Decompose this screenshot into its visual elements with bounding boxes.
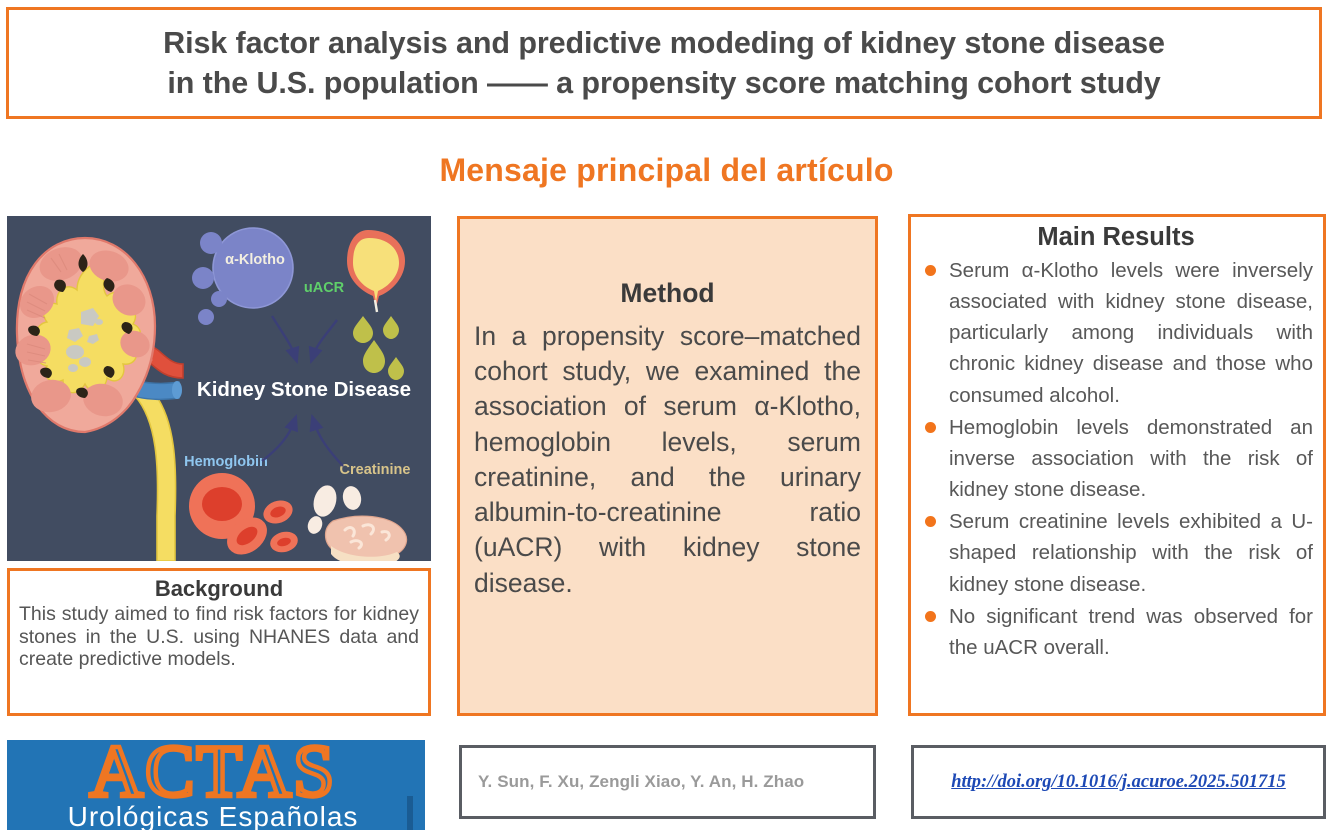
bullet-icon <box>925 422 936 433</box>
method-heading: Method <box>474 278 861 309</box>
list-item: No significant trend was observed for th… <box>919 601 1313 663</box>
list-item-text: Serum creatinine levels exhibited a U-sh… <box>949 510 1313 595</box>
bullet-icon <box>925 265 936 276</box>
subtitle: Mensaje principal del artículo <box>0 152 1333 189</box>
figure-center-label: Kidney Stone Disease <box>197 378 411 401</box>
journal-logo: ACTAS Urológicas Españolas <box>7 740 425 830</box>
renal-vein-opening <box>172 381 182 399</box>
title-line-1: Risk factor analysis and predictive mode… <box>163 26 1165 60</box>
bullet-icon <box>925 611 936 622</box>
main-results-heading: Main Results <box>919 223 1313 252</box>
list-item: Hemoglobin levels demonstrated an invers… <box>919 412 1313 505</box>
method-body: In a propensity score–matched cohort stu… <box>474 319 861 601</box>
method-panel: Method In a propensity score–matched coh… <box>457 216 878 716</box>
klotho-satellite-1 <box>200 232 222 254</box>
doi-box[interactable]: http://doi.org/10.1016/j.acuroe.2025.501… <box>911 745 1326 819</box>
logo-sub-text: Urológicas Españolas <box>68 801 359 830</box>
background-panel: Background This study aimed to find risk… <box>7 568 431 716</box>
klotho-satellite-2 <box>192 267 214 289</box>
title-line-2: in the U.S. population —— a propensity s… <box>167 66 1160 100</box>
creatinine-label: Creatinine <box>340 462 411 478</box>
page-title: Risk factor analysis and predictive mode… <box>151 23 1177 104</box>
graphical-abstract-poster: Risk factor analysis and predictive mode… <box>0 0 1333 830</box>
doi-link[interactable]: http://doi.org/10.1016/j.acuroe.2025.501… <box>951 772 1286 793</box>
kidney-stone-figure: α-Klotho uACR <box>7 216 431 561</box>
uacr-label: uACR <box>304 280 345 296</box>
background-heading: Background <box>19 576 419 602</box>
bullet-icon <box>925 516 936 527</box>
list-item-text: Serum α-Klotho levels were inversely ass… <box>949 259 1313 407</box>
main-results-list: Serum α-Klotho levels were inversely ass… <box>919 255 1313 663</box>
title-box: Risk factor analysis and predictive mode… <box>6 7 1322 119</box>
hemoglobin-label: Hemoglobin <box>184 454 268 470</box>
list-item: Serum creatinine levels exhibited a U-sh… <box>919 506 1313 599</box>
list-item-text: No significant trend was observed for th… <box>949 605 1313 659</box>
klotho-satellite-3 <box>211 291 227 307</box>
background-body: This study aimed to find risk factors fo… <box>19 603 419 671</box>
figure-illustration: α-Klotho uACR <box>7 216 431 561</box>
rbc-1-center <box>202 487 242 521</box>
list-item-text: Hemoglobin levels demonstrated an invers… <box>949 416 1313 501</box>
journal-logo-graphic: ACTAS Urológicas Españolas <box>7 740 425 830</box>
klotho-label: α-Klotho <box>225 252 285 268</box>
authors-box: Y. Sun, F. Xu, Zengli Xiao, Y. An, H. Zh… <box>459 745 876 819</box>
logo-accent-bar <box>407 796 413 830</box>
klotho-satellite-4 <box>198 309 214 325</box>
main-results-panel: Main Results Serum α-Klotho levels were … <box>908 214 1326 716</box>
authors-list: Y. Sun, F. Xu, Zengli Xiao, Y. An, H. Zh… <box>462 772 804 792</box>
list-item: Serum α-Klotho levels were inversely ass… <box>919 255 1313 411</box>
